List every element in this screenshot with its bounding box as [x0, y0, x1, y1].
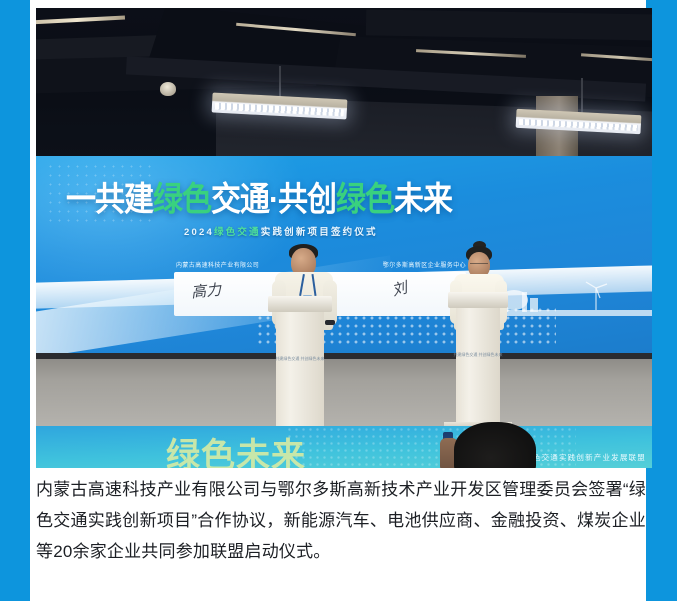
lower-stage-banner: 绿色未来 绿色交通实践创新产业发展联盟 — [36, 426, 652, 468]
podium-left: 共建绿色交通 共创绿色未来 — [276, 304, 324, 430]
screen-party-names: 内蒙古高速科技产业有限公司 鄂尔多斯高新区企业服务中心 — [176, 260, 466, 269]
left-brand-rail — [0, 0, 30, 601]
ceiling-duct — [366, 9, 652, 40]
ceiling-region — [36, 8, 652, 158]
ceiling-bulb-icon — [160, 82, 176, 96]
signature-left: 高力 — [190, 278, 222, 302]
glasses-icon — [470, 263, 488, 267]
lower-banner-subtext: 绿色交通实践创新产业发展联盟 — [524, 452, 646, 463]
page-root: 一共建绿色交通·共创绿色未来 2024绿色交通实践创新项目签约仪式 — [0, 0, 677, 601]
screen-subheadline: 2024绿色交通实践创新项目签约仪式 — [184, 224, 378, 238]
stage-floor — [36, 359, 652, 429]
wristwatch — [325, 320, 335, 325]
article-body: 一共建绿色交通·共创绿色未来 2024绿色交通实践创新项目签约仪式 — [30, 0, 646, 601]
ceiling-track-rail — [36, 16, 125, 25]
podium-top-panel — [268, 296, 332, 312]
party-name-left: 内蒙古高速科技产业有限公司 — [176, 260, 259, 269]
led-stage-screen: 一共建绿色交通·共创绿色未来 2024绿色交通实践创新项目签约仪式 — [36, 156, 652, 361]
foreground-person-head — [454, 422, 536, 468]
podium-right: 共建绿色交通 共创绿色未来 — [456, 300, 500, 424]
lamp-cord — [279, 66, 281, 98]
party-name-right: 鄂尔多斯高新区企业服务中心 — [383, 260, 466, 269]
article-caption: 内蒙古高速科技产业有限公司与鄂尔多斯高新技术产业开发区管理委员会签署“绿色交通实… — [36, 474, 652, 567]
lower-banner-headline: 绿色未来 — [166, 428, 306, 468]
podium-left-label: 共建绿色交通 共创绿色未来 — [275, 356, 324, 362]
screen-headline: 一共建绿色交通·共创绿色未来 — [66, 171, 496, 220]
podium-top-panel — [448, 292, 508, 308]
signing-ceremony-photo: 一共建绿色交通·共创绿色未来 2024绿色交通实践创新项目签约仪式 — [36, 8, 652, 468]
lamp-cord — [581, 78, 583, 114]
podium-right-label: 共建绿色交通 共创绿色未来 — [453, 352, 502, 358]
